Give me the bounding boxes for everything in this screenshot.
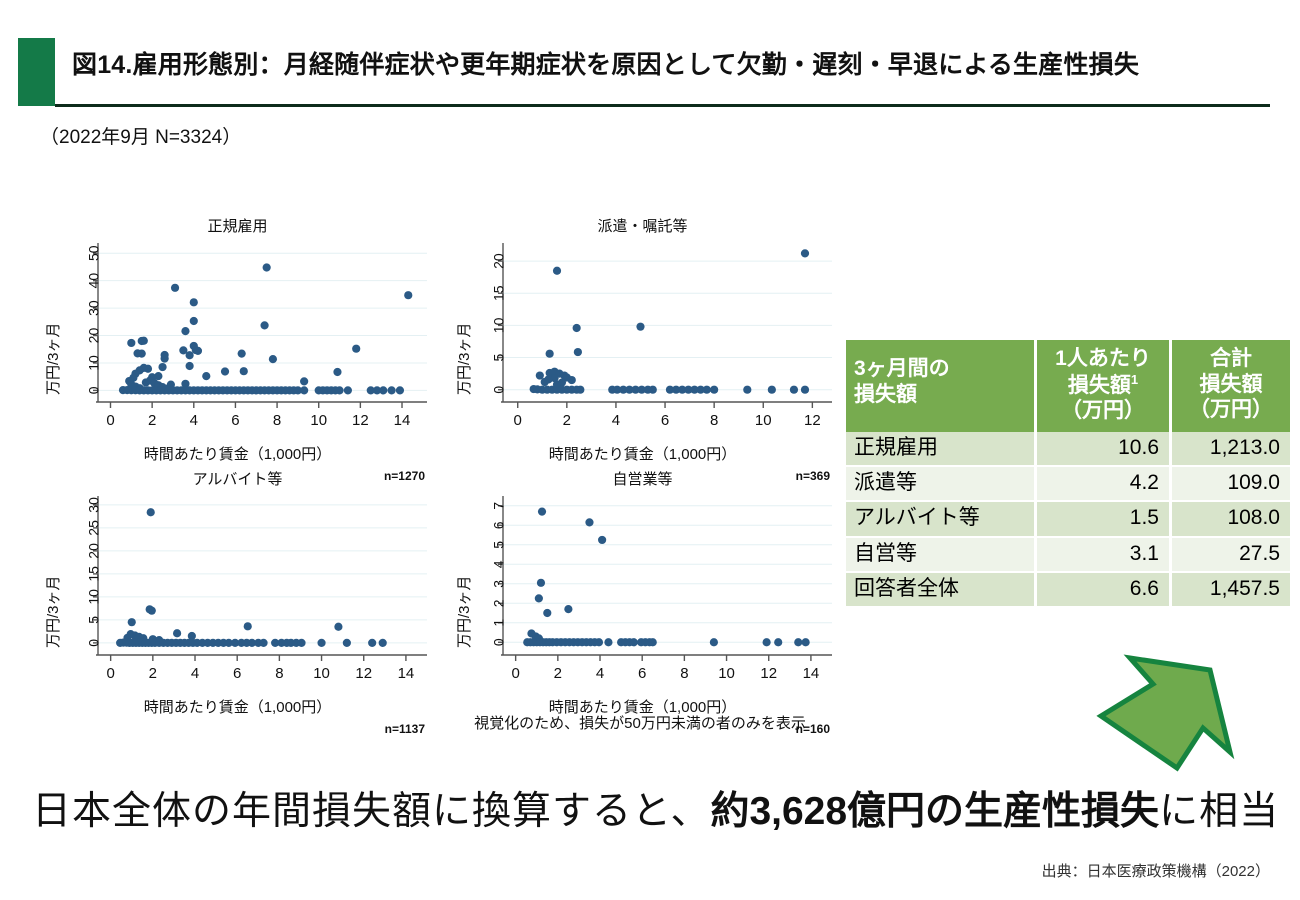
data-point [148,607,156,615]
data-point [269,355,277,363]
data-point [379,639,387,647]
data-point [541,378,549,386]
data-point [801,386,809,394]
header-per-person-line2: 損失額 [1068,374,1131,397]
data-point [334,623,342,631]
y-tick-label: 0 [490,386,506,394]
data-point [379,386,387,394]
title-accent-bar [18,38,55,106]
y-tick-label: 4 [490,560,506,568]
cell-total: 1,457.5 [1171,572,1291,607]
y-tick-label: 2 [490,599,506,607]
scatter-plot-grid: 正規雇用 0102030405002468101214 万円/3ヶ月 時間あたり… [40,215,840,745]
data-point [576,386,584,394]
data-point [598,536,606,544]
cell-category: 回答者全体 [846,572,1036,607]
data-point [536,371,544,379]
x-tick-label: 10 [718,665,735,682]
table-header-row: 3ヶ月間の 損失額 1人あたり 損失額1 （万円） 合計 損失額 （万円） [846,340,1290,432]
cell-per-person: 10.6 [1036,432,1171,466]
cell-category: 正規雇用 [846,432,1036,466]
table-row: アルバイト等1.5108.0 [846,501,1290,536]
scatter-canvas-1: 05101520024681012 [445,237,840,442]
y-axis-label: 万円/3ヶ月 [453,575,474,648]
chart-title: 派遣・嘱託等 [445,215,840,236]
data-point [388,386,396,394]
x-tick-label: 4 [612,412,620,429]
scatter-canvas-3: 0123456702468101214 [445,490,840,695]
green-down-arrow [1095,648,1275,778]
data-point [710,638,718,646]
x-axis-label: 時間あたり賃金（1,000円） [445,443,840,464]
statement-suffix: に相当 [1159,790,1279,833]
data-point [763,638,771,646]
data-point [335,386,343,394]
header-per-person: 1人あたり 損失額1 （万円） [1036,340,1171,432]
y-tick-label: 0 [490,638,506,646]
data-point [538,508,546,516]
data-point [344,386,352,394]
chart-panel-1: 派遣・嘱託等 05101520024681012 万円/3ヶ月 時間あたり賃金（… [445,215,840,465]
x-tick-label: 2 [554,665,562,682]
data-point [396,386,404,394]
data-point [263,263,271,271]
y-tick-label: 5 [490,541,506,549]
cell-total: 109.0 [1171,466,1291,501]
header-per-person-unit: （万円） [1061,399,1145,422]
cell-total: 27.5 [1171,537,1291,572]
x-tick-label: 0 [106,665,114,682]
y-tick-label: 10 [85,589,101,605]
data-point [161,354,169,362]
x-tick-label: 14 [803,665,820,682]
data-point [181,327,189,335]
x-tick-label: 0 [106,412,114,429]
scatter-svg: 05101520253002468101214 [40,490,435,695]
data-point [238,350,246,358]
data-point [192,346,200,354]
plot-area: 0123456702468101214 万円/3ヶ月 [445,490,840,695]
cell-category: アルバイト等 [846,501,1036,536]
x-tick-label: 4 [596,665,604,682]
data-point [630,638,638,646]
sample-size-label: n=1137 [385,722,425,736]
x-tick-label: 8 [275,665,283,682]
data-point [244,622,252,630]
header-total-unit: （万円） [1189,398,1273,421]
data-point [186,362,194,370]
data-point [158,363,166,371]
data-point [147,508,155,516]
summary-statement: 日本全体の年間損失額に換算すると、約3,628億円の生産性損失に相当 [32,780,1277,836]
chart-title: 正規雇用 [40,215,435,236]
y-tick-label: 6 [490,521,506,529]
y-tick-label: 10 [490,317,506,333]
data-point [564,605,572,613]
chart-title: アルバイト等 [40,468,435,489]
data-point [743,386,751,394]
data-point [574,348,582,356]
data-point [190,317,198,325]
cell-category: 派遣等 [846,466,1036,501]
header-total-line1: 合計 [1210,347,1252,370]
x-tick-label: 14 [394,412,411,429]
x-tick-label: 2 [563,412,571,429]
y-tick-label: 30 [85,497,101,513]
y-tick-label: 50 [85,245,101,261]
header-category: 3ヶ月間の 損失額 [846,340,1036,432]
y-axis-label: 万円/3ヶ月 [453,322,474,395]
data-point [768,386,776,394]
x-tick-label: 6 [638,665,646,682]
chart-title: 自営業等 [445,468,840,489]
data-point [300,377,308,385]
data-point [535,594,543,602]
page-title: 図14.雇用形態別：月経随伴症状や更年期症状を原因として欠勤・遅刻・早退による生… [72,50,1262,81]
y-tick-label: 20 [85,328,101,344]
data-point [352,345,360,353]
x-tick-label: 10 [310,412,327,429]
y-tick-label: 25 [85,520,101,536]
table-row: 正規雇用10.61,213.0 [846,432,1290,466]
data-point [260,321,268,329]
cell-per-person: 1.5 [1036,501,1171,536]
data-point [173,629,181,637]
data-point [604,638,612,646]
y-tick-label: 40 [85,273,101,289]
y-axis-label: 万円/3ヶ月 [42,322,63,395]
data-point [343,639,351,647]
y-tick-label: 0 [85,386,101,394]
data-point [801,249,809,257]
data-point [202,372,210,380]
header-per-person-line1: 1人あたり [1055,347,1151,370]
scatter-svg: 0102030405002468101214 [40,237,435,442]
y-tick-label: 0 [85,639,101,647]
x-tick-label: 12 [355,665,372,682]
x-tick-label: 2 [148,412,156,429]
scatter-svg: 0123456702468101214 [445,490,840,695]
cell-per-person: 3.1 [1036,537,1171,572]
data-point [649,386,657,394]
table-row: 派遣等4.2109.0 [846,466,1290,501]
scatter-canvas-0: 0102030405002468101214 [40,237,435,442]
data-point [794,638,802,646]
data-point [585,518,593,526]
y-tick-label: 10 [85,355,101,371]
data-point [300,386,308,394]
data-point [404,291,412,299]
x-tick-label: 0 [511,665,519,682]
data-point [553,267,561,275]
data-point [543,609,551,617]
data-point [297,639,305,647]
subtitle: （2022年9月 N=3324） [40,122,241,149]
x-tick-label: 12 [804,412,821,429]
data-point [171,284,179,292]
x-tick-label: 14 [398,665,415,682]
data-point [186,351,194,359]
data-point [546,350,554,358]
data-point [140,337,148,345]
y-tick-label: 7 [490,502,506,510]
data-point [710,386,718,394]
data-point [240,367,248,375]
plot-area: 05101520024681012 万円/3ヶ月 [445,237,840,442]
loss-summary-table: 3ヶ月間の 損失額 1人あたり 損失額1 （万円） 合計 損失額 （万円） 正規… [846,340,1290,608]
y-tick-label: 5 [85,616,101,624]
data-point [636,323,644,331]
cell-total: 1,213.0 [1171,432,1291,466]
plot-area: 0102030405002468101214 万円/3ヶ月 [40,237,435,442]
y-tick-label: 30 [85,300,101,316]
x-tick-label: 12 [760,665,777,682]
x-tick-label: 8 [273,412,281,429]
x-tick-label: 6 [661,412,669,429]
y-tick-label: 20 [85,543,101,559]
cell-total: 108.0 [1171,501,1291,536]
data-point [774,638,782,646]
x-tick-label: 10 [755,412,772,429]
data-point [333,368,341,376]
y-tick-label: 15 [85,566,101,582]
x-tick-label: 2 [149,665,157,682]
data-point [368,639,376,647]
x-tick-label: 8 [680,665,688,682]
data-point [568,376,576,384]
data-point [221,367,229,375]
header-category-line2: 損失額 [854,383,917,406]
scatter-svg: 05101520024681012 [445,237,840,442]
x-tick-label: 6 [233,665,241,682]
data-point [537,579,545,587]
x-axis-label: 時間あたり賃金（1,000円） [40,443,435,464]
header-total: 合計 損失額 （万円） [1171,340,1291,432]
x-tick-label: 4 [191,665,199,682]
chart-panel-2: アルバイト等 05101520253002468101214 万円/3ヶ月 時間… [40,468,435,718]
x-tick-label: 12 [352,412,369,429]
y-tick-label: 1 [490,619,506,627]
y-axis-label: 万円/3ヶ月 [42,575,63,648]
cell-category: 自営等 [846,537,1036,572]
x-tick-label: 0 [514,412,522,429]
scatter-canvas-2: 05101520253002468101214 [40,490,435,695]
plot-area: 05101520253002468101214 万円/3ヶ月 [40,490,435,695]
y-tick-label: 20 [490,253,506,269]
cell-per-person: 4.2 [1036,466,1171,501]
data-point [790,386,798,394]
x-axis-label: 時間あたり賃金（1,000円） [40,696,435,717]
table-body: 正規雇用10.61,213.0派遣等4.2109.0アルバイト等1.5108.0… [846,432,1290,607]
table-row: 回答者全体6.61,457.5 [846,572,1290,607]
table-row: 自営等3.127.5 [846,537,1290,572]
data-point [127,339,135,347]
data-point [190,298,198,306]
chart-footnote: 視覚化のため、損失が50万円未満の者のみを表示 [440,712,840,733]
data-point [573,324,581,332]
x-tick-label: 8 [710,412,718,429]
data-point [703,386,711,394]
source-credit: 出典：日本医療政策機構（2022） [1042,860,1270,881]
cell-per-person: 6.6 [1036,572,1171,607]
x-tick-label: 10 [313,665,330,682]
y-tick-label: 3 [490,580,506,588]
data-point [259,639,267,647]
x-tick-label: 6 [231,412,239,429]
statement-emphasis: 約3,628億円の生産性損失 [710,790,1159,833]
data-point [138,350,146,358]
data-point [317,639,325,647]
data-point [802,638,810,646]
header-total-line2: 損失額 [1200,373,1263,396]
chart-panel-0: 正規雇用 0102030405002468101214 万円/3ヶ月 時間あたり… [40,215,435,465]
y-tick-label: 15 [490,285,506,301]
x-tick-label: 4 [190,412,198,429]
header-category-line1: 3ヶ月間の [854,357,950,380]
chart-panel-3: 自営業等 0123456702468101214 万円/3ヶ月 時間あたり賃金（… [445,468,840,718]
y-tick-label: 5 [490,353,506,361]
statement-prefix: 日本全体の年間損失額に換算すると、 [32,790,710,833]
data-point [649,638,657,646]
header-footnote-marker: 1 [1131,372,1138,387]
title-divider [55,104,1270,107]
arrow-icon [1095,648,1275,778]
data-point [595,638,603,646]
data-point [128,618,136,626]
